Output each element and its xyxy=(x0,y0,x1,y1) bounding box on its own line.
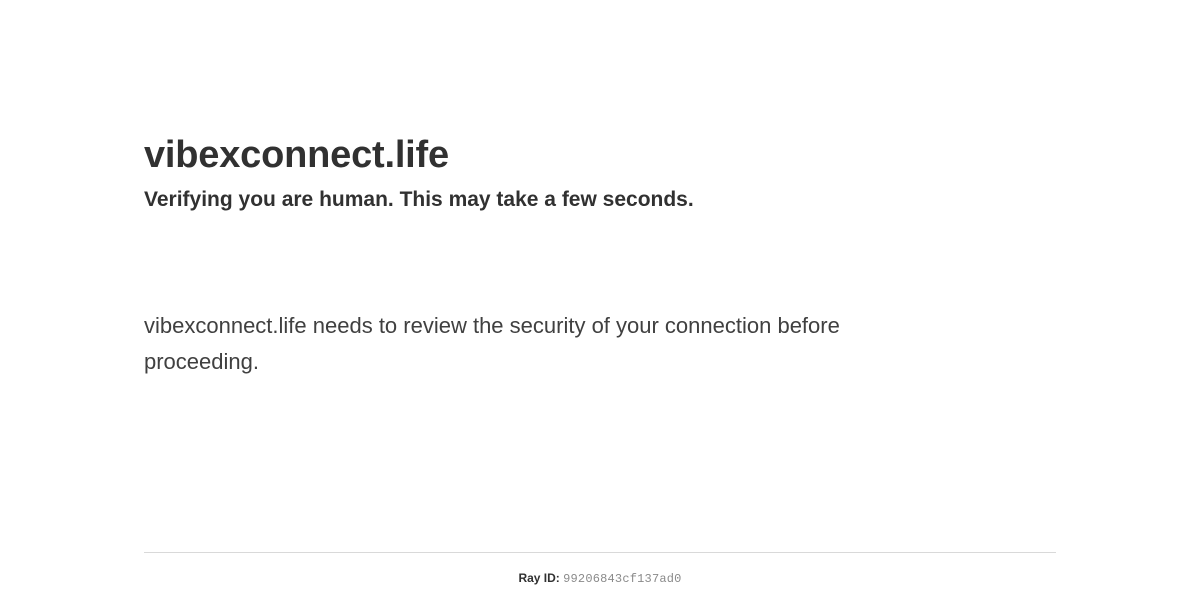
challenge-main-content: vibexconnect.life Verifying you are huma… xyxy=(144,132,1056,380)
challenge-page: vibexconnect.life Verifying you are huma… xyxy=(0,0,1200,600)
turnstile-widget-container[interactable] xyxy=(144,214,444,308)
challenge-description: vibexconnect.life needs to review the se… xyxy=(144,308,944,380)
challenge-subtitle: Verifying you are human. This may take a… xyxy=(144,178,1056,214)
main-wrapper: vibexconnect.life Verifying you are huma… xyxy=(144,0,1056,600)
page-title: vibexconnect.life xyxy=(144,132,1056,178)
ray-id-line: Ray ID: 99206843cf137ad0 xyxy=(144,569,1056,588)
footer-inner: Ray ID: 99206843cf137ad0 Performance & s… xyxy=(144,553,1056,600)
ray-id-label: Ray ID: xyxy=(518,571,559,585)
ray-id-value: 99206843cf137ad0 xyxy=(563,572,681,586)
challenge-footer: Ray ID: 99206843cf137ad0 Performance & s… xyxy=(144,552,1056,600)
